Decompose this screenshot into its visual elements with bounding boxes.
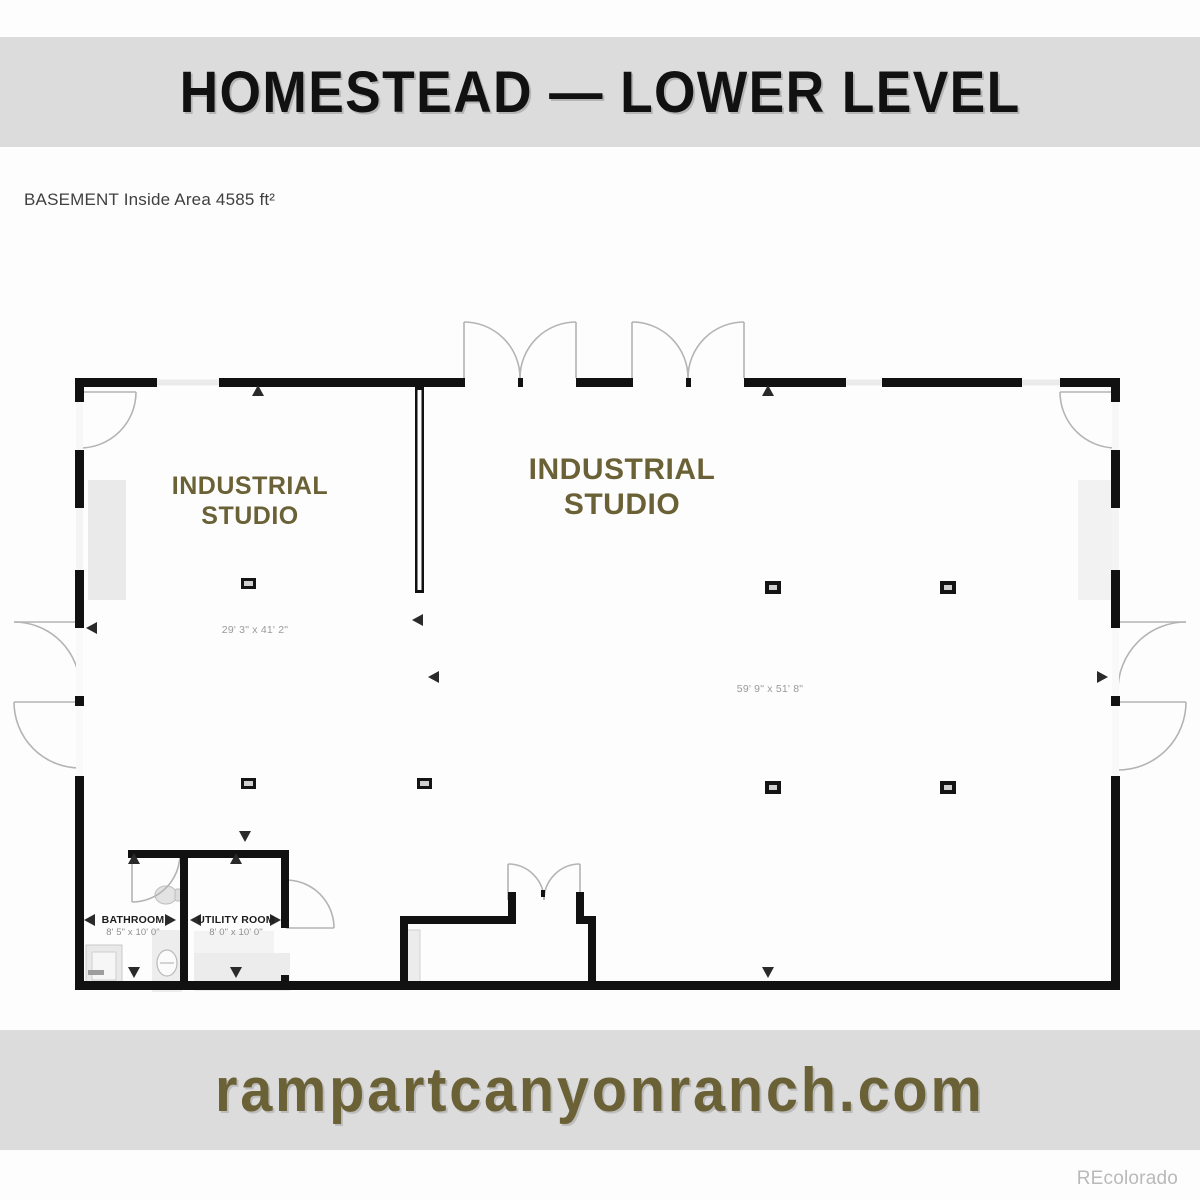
column-marker xyxy=(940,581,956,594)
dim-arrow-left xyxy=(84,914,95,926)
window-right-upper xyxy=(1112,508,1119,570)
shower-drain xyxy=(88,970,104,975)
header-band: HOMESTEAD — LOWER LEVEL xyxy=(0,37,1200,147)
dim-arrow-right xyxy=(165,914,176,926)
column-marker xyxy=(765,781,781,794)
wall-right-door-stop xyxy=(1111,696,1120,706)
shower-pan xyxy=(92,952,116,980)
wall-left-seg-4 xyxy=(75,776,84,990)
door-swings xyxy=(14,322,1186,928)
window-right-upper-glass xyxy=(1078,480,1116,600)
doorway-left-lower-a xyxy=(76,628,83,698)
doorway-left-upper xyxy=(76,402,83,450)
column-marker xyxy=(241,778,256,789)
dim-arrow-right xyxy=(412,614,423,626)
wall-left-seg-2 xyxy=(75,450,84,508)
door-stop-center xyxy=(541,890,545,897)
dimension-arrows xyxy=(84,385,1108,978)
dim-arrow-left-wall xyxy=(86,622,97,634)
wall-right-seg-3 xyxy=(1111,570,1120,628)
column-marker xyxy=(417,778,432,789)
door-arc-left-upper xyxy=(80,392,136,448)
footer-band: rampartcanyonranch.com xyxy=(0,1030,1200,1150)
column-marker xyxy=(765,581,781,594)
website-url: rampartcanyonranch.com xyxy=(215,1055,985,1126)
exterior-walls xyxy=(75,378,1120,990)
wall-top-seg-1 xyxy=(75,378,157,387)
dim-arrow-down xyxy=(762,967,774,978)
floorplan-page: HOMESTEAD — LOWER LEVEL BASEMENT Inside … xyxy=(0,0,1200,1200)
doorway-right-lower-b xyxy=(1112,706,1119,776)
partition-stub-core xyxy=(418,390,422,590)
wall-bumpout-jamb-right xyxy=(576,892,584,924)
door-arc-top-1a xyxy=(464,322,520,378)
door-arc-top-2a xyxy=(632,322,688,378)
window-top-3 xyxy=(1022,380,1060,386)
door-arc-center-b xyxy=(544,864,580,900)
wall-top-seg-3 xyxy=(576,378,633,387)
column-marker xyxy=(940,781,956,794)
wall-bumpout-top-left xyxy=(400,916,508,924)
utility-equipment xyxy=(194,931,274,953)
dim-arrow-up-outer xyxy=(239,831,251,842)
dim-arrow-left xyxy=(190,914,201,926)
structural-columns xyxy=(241,578,956,794)
dim-arrow-left xyxy=(428,671,439,683)
dim-arrow-right xyxy=(1097,671,1108,683)
dim-arrow-down xyxy=(128,967,140,978)
wall-left-seg-1 xyxy=(75,378,84,402)
door-stop-top-2 xyxy=(686,378,691,387)
door-arc-top-1b xyxy=(520,322,576,378)
door-arc-right-lower-b xyxy=(1118,702,1186,770)
floorplan-drawing xyxy=(0,240,1200,1030)
wall-top-seg-2 xyxy=(219,378,465,387)
page-title: HOMESTEAD — LOWER LEVEL xyxy=(179,59,1020,126)
window-left-upper-glass xyxy=(88,480,126,600)
door-stop-top-1 xyxy=(518,378,523,387)
window-top-1 xyxy=(157,380,219,386)
window-left-upper xyxy=(76,508,83,570)
wall-left-seg-3 xyxy=(75,570,84,628)
door-arc-left-lower-a xyxy=(14,622,80,688)
wall-right-seg-2 xyxy=(1111,450,1120,508)
wall-left-door-stop xyxy=(75,696,84,706)
door-arc-left-lower-b xyxy=(14,702,80,768)
wall-right-seg-4 xyxy=(1111,776,1120,990)
window-top-2 xyxy=(846,380,882,386)
wall-bumpout-jamb-left xyxy=(508,892,516,924)
wall-bumpout-east xyxy=(588,916,596,990)
door-arc-right-lower-a xyxy=(1118,622,1186,690)
wall-utility-east-upper xyxy=(281,850,289,928)
door-arc-utility xyxy=(286,880,334,928)
doorway-right-lower-a xyxy=(1112,628,1119,698)
inside-area-note: BASEMENT Inside Area 4585 ft² xyxy=(24,190,275,210)
door-arc-top-2b xyxy=(688,322,744,378)
wall-bumpout-west xyxy=(400,916,408,990)
wall-top-seg-4 xyxy=(744,378,846,387)
dim-arrow-right xyxy=(270,914,281,926)
wall-bottom xyxy=(75,981,1120,990)
watermark-recolorado: REcolorado xyxy=(1077,1168,1178,1190)
column-marker xyxy=(241,578,256,589)
wall-bath-utility-top xyxy=(128,850,288,858)
wall-between-bath-utility xyxy=(180,850,188,990)
wall-right-seg-1 xyxy=(1111,378,1120,402)
wall-top-seg-5 xyxy=(882,378,1022,387)
doorway-right-upper xyxy=(1112,402,1119,450)
door-arc-right-upper xyxy=(1060,392,1116,448)
doorway-left-lower-b xyxy=(76,706,83,776)
wall-utility-east-lower xyxy=(281,975,289,990)
